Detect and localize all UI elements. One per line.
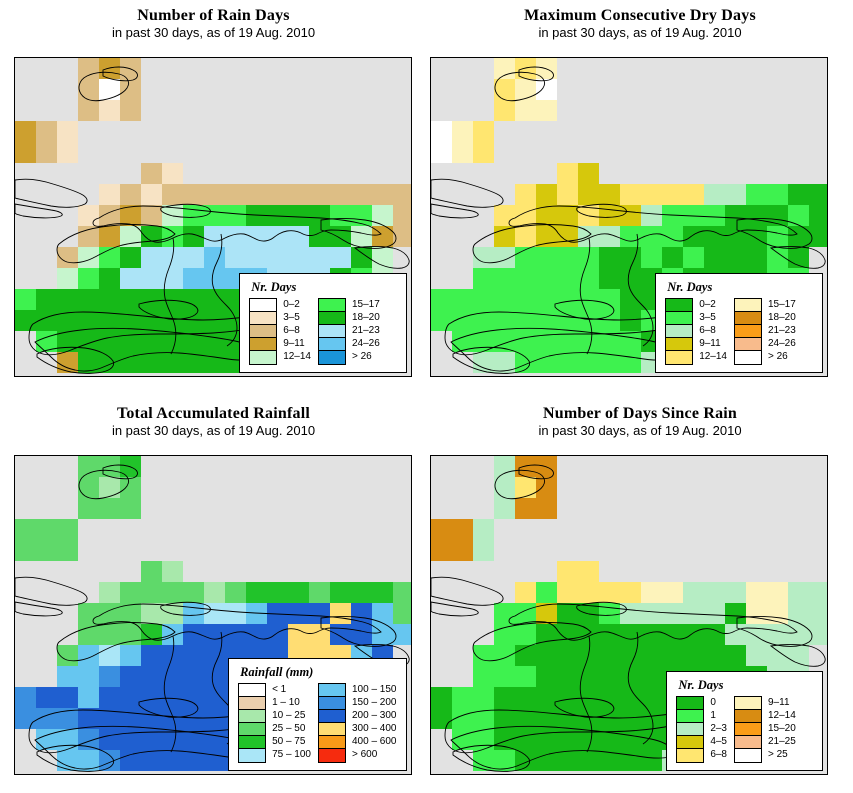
map-grid-cell bbox=[767, 603, 788, 624]
legend-label: 1 bbox=[704, 709, 727, 722]
map-grid-cell bbox=[536, 331, 557, 352]
map-grid-cell bbox=[704, 247, 725, 268]
map-grid-cell bbox=[578, 226, 599, 247]
legend-label: 9–11 bbox=[277, 337, 311, 350]
map-grid-cell bbox=[120, 498, 141, 519]
map-grid-cell bbox=[204, 624, 225, 645]
map-grid-cell bbox=[641, 603, 662, 624]
map-grid-cell bbox=[788, 582, 809, 603]
map-grid-cell bbox=[120, 582, 141, 603]
map-grid-cell bbox=[204, 268, 225, 289]
legend-label-stack: 15–1718–2021–2324–26> 26 bbox=[346, 298, 398, 365]
map-grid-cell bbox=[536, 352, 557, 373]
map-grid-cell bbox=[578, 645, 599, 666]
panel-subtitle: in past 30 days, as of 19 Aug. 2010 bbox=[0, 25, 427, 41]
legend-swatch bbox=[250, 299, 276, 312]
map-grid-cell bbox=[536, 687, 557, 708]
map-grid-cell bbox=[267, 603, 288, 624]
map-grid-cell bbox=[515, 456, 536, 477]
map-grid-cell bbox=[452, 121, 473, 142]
map-grid-cell bbox=[183, 247, 204, 268]
map-grid-cell bbox=[120, 708, 141, 729]
legend-swatch bbox=[735, 338, 761, 351]
map-grid-cell bbox=[36, 540, 57, 561]
map-grid-cell bbox=[620, 205, 641, 226]
map-grid-cell bbox=[204, 708, 225, 729]
map-grid-cell bbox=[494, 331, 515, 352]
map-grid-cell bbox=[141, 708, 162, 729]
map-grid-cell bbox=[536, 58, 557, 79]
legend-swatch bbox=[677, 749, 703, 762]
map-grid-cell bbox=[78, 603, 99, 624]
legend-label: 6–8 bbox=[277, 324, 311, 337]
map-grid-cell bbox=[515, 645, 536, 666]
map-grid-cell bbox=[120, 603, 141, 624]
map-grid-cell bbox=[599, 331, 620, 352]
legend-column: 012–34–56–8 bbox=[676, 696, 727, 763]
map-grid-cell bbox=[473, 750, 494, 771]
map-grid-cell bbox=[788, 184, 809, 205]
map-grid-cell bbox=[57, 142, 78, 163]
map-grid-cell bbox=[204, 645, 225, 666]
map-grid-cell bbox=[599, 582, 620, 603]
panel-rain-days: Number of Rain Days in past 30 days, as … bbox=[0, 6, 427, 41]
map-grid-cell bbox=[599, 310, 620, 331]
map-grid-cell bbox=[204, 184, 225, 205]
legend-swatch bbox=[250, 338, 276, 351]
legend-label: > 600 bbox=[346, 748, 398, 761]
map-grid-cell bbox=[351, 582, 372, 603]
map-grid-cell bbox=[78, 352, 99, 373]
map-grid-cell bbox=[494, 687, 515, 708]
map-grid-cell bbox=[809, 184, 828, 205]
map-grid-cell bbox=[141, 750, 162, 771]
map-grid-cell bbox=[431, 142, 452, 163]
map-grid-cell bbox=[57, 310, 78, 331]
map-grid-cell bbox=[99, 582, 120, 603]
map-grid-cell bbox=[620, 352, 641, 373]
map-grid-cell bbox=[473, 708, 494, 729]
map-grid-cell bbox=[57, 331, 78, 352]
map-grid-cell bbox=[36, 519, 57, 540]
map-grid-cell bbox=[330, 184, 351, 205]
map-grid-cell bbox=[204, 687, 225, 708]
map-grid-cell bbox=[309, 205, 330, 226]
map-grid-cell bbox=[99, 331, 120, 352]
map-grid-cell bbox=[452, 331, 473, 352]
map-grid-cell bbox=[183, 331, 204, 352]
map-grid-cell bbox=[225, 247, 246, 268]
legend-swatch bbox=[319, 710, 345, 723]
map-grid-cell bbox=[351, 184, 372, 205]
map-grid-cell bbox=[246, 226, 267, 247]
map-grid-cell bbox=[494, 645, 515, 666]
map-grid-cell bbox=[267, 247, 288, 268]
map-grid-cell bbox=[452, 519, 473, 540]
map-grid-cell bbox=[372, 205, 393, 226]
map-grid-cell bbox=[704, 603, 725, 624]
map-grid-cell bbox=[78, 226, 99, 247]
map-grid-cell bbox=[557, 645, 578, 666]
map-grid-cell bbox=[452, 708, 473, 729]
map-grid-cell bbox=[620, 247, 641, 268]
map-grid-cell bbox=[267, 582, 288, 603]
map-grid-cell bbox=[599, 247, 620, 268]
map-grid-cell bbox=[141, 582, 162, 603]
map-grid-cell bbox=[620, 603, 641, 624]
map-grid-cell bbox=[288, 624, 309, 645]
map-grid-cell bbox=[99, 687, 120, 708]
map-days-since-rain[interactable]: Nr. Days012–34–56–89–1112–1415–2021–25> … bbox=[430, 455, 828, 775]
map-grid-cell bbox=[620, 687, 641, 708]
map-grid-cell bbox=[57, 687, 78, 708]
legend-swatch bbox=[677, 723, 703, 736]
map-grid-cell bbox=[662, 624, 683, 645]
panel-subtitle: in past 30 days, as of 19 Aug. 2010 bbox=[427, 25, 853, 41]
map-grid-cell bbox=[204, 310, 225, 331]
map-grid-cell bbox=[204, 750, 225, 771]
map-grid-cell bbox=[536, 603, 557, 624]
legend-swatch bbox=[319, 697, 345, 710]
map-grid-cell bbox=[725, 582, 746, 603]
map-grid-cell bbox=[36, 310, 57, 331]
map-grid-cell bbox=[162, 687, 183, 708]
legend-swatch bbox=[666, 299, 692, 312]
map-grid-cell bbox=[515, 289, 536, 310]
map-grid-cell bbox=[599, 624, 620, 645]
map-grid-cell bbox=[99, 79, 120, 100]
map-grid-cell bbox=[536, 477, 557, 498]
legend-title: Nr. Days bbox=[251, 280, 398, 295]
map-grid-cell bbox=[246, 184, 267, 205]
map-grid-cell bbox=[557, 247, 578, 268]
map-grid-cell bbox=[473, 121, 494, 142]
map-grid-cell bbox=[78, 58, 99, 79]
map-grid-cell bbox=[494, 226, 515, 247]
map-grid-cell bbox=[99, 645, 120, 666]
map-grid-cell bbox=[36, 687, 57, 708]
panel-dry-days: Maximum Consecutive Dry Days in past 30 … bbox=[427, 6, 853, 41]
map-grid-cell bbox=[788, 645, 809, 666]
map-grid-cell bbox=[578, 352, 599, 373]
legend-label-stack: 0–23–56–89–1112–14 bbox=[693, 298, 727, 365]
map-grid-cell bbox=[473, 687, 494, 708]
map-grid-cell bbox=[620, 708, 641, 729]
map-grid-cell bbox=[225, 226, 246, 247]
legend-swatch bbox=[735, 325, 761, 338]
map-grid-cell bbox=[683, 603, 704, 624]
map-grid-cell bbox=[578, 708, 599, 729]
map-grid-cell bbox=[515, 310, 536, 331]
legend-swatch-stack bbox=[238, 683, 266, 763]
legend-swatch bbox=[666, 325, 692, 338]
map-grid-cell bbox=[536, 100, 557, 121]
legend-column: 15–1718–2021–2324–26> 26 bbox=[318, 298, 398, 365]
map-grid-cell bbox=[494, 456, 515, 477]
map-grid-cell bbox=[309, 247, 330, 268]
map-grid-cell bbox=[141, 226, 162, 247]
map-grid-cell bbox=[57, 247, 78, 268]
map-grid-cell bbox=[431, 121, 452, 142]
map-grid-cell bbox=[372, 624, 393, 645]
map-grid-cell bbox=[15, 310, 36, 331]
map-grid-cell bbox=[599, 205, 620, 226]
map-grid-cell bbox=[288, 603, 309, 624]
map-grid-cell bbox=[515, 603, 536, 624]
map-grid-cell bbox=[494, 729, 515, 750]
map-grid-cell bbox=[267, 205, 288, 226]
map-grid-cell bbox=[36, 729, 57, 750]
map-grid-cell bbox=[578, 624, 599, 645]
map-grid-cell bbox=[557, 729, 578, 750]
map-grid-cell bbox=[725, 184, 746, 205]
map-grid-cell bbox=[473, 519, 494, 540]
map-grid-cell bbox=[141, 268, 162, 289]
legend-label: 15–17 bbox=[762, 298, 814, 311]
legend-column: 100 – 150150 – 200200 – 300300 – 400400 … bbox=[318, 683, 398, 763]
map-grid-cell bbox=[767, 184, 788, 205]
panel-total-rainfall: Total Accumulated Rainfall in past 30 da… bbox=[0, 404, 427, 439]
map-grid-cell bbox=[431, 540, 452, 561]
map-grid-cell bbox=[120, 729, 141, 750]
map-grid-cell bbox=[536, 729, 557, 750]
map-grid-cell bbox=[473, 540, 494, 561]
map-grid-cell bbox=[725, 226, 746, 247]
map-grid-cell bbox=[162, 205, 183, 226]
legend-swatch bbox=[735, 736, 761, 749]
legend-label: 21–23 bbox=[346, 324, 398, 337]
map-grid-cell bbox=[704, 582, 725, 603]
map-grid-cell bbox=[641, 729, 662, 750]
map-grid-cell bbox=[78, 268, 99, 289]
map-grid-cell bbox=[204, 205, 225, 226]
legend-label: 21–23 bbox=[762, 324, 814, 337]
map-grid-cell bbox=[78, 708, 99, 729]
map-grid-cell bbox=[141, 352, 162, 373]
map-grid-cell bbox=[57, 268, 78, 289]
map-grid-cell bbox=[599, 268, 620, 289]
legend-swatch bbox=[319, 351, 345, 364]
map-grid-cell bbox=[557, 184, 578, 205]
map-grid-cell bbox=[662, 226, 683, 247]
map-grid-cell bbox=[225, 624, 246, 645]
map-grid-cell bbox=[183, 352, 204, 373]
map-grid-cell bbox=[204, 582, 225, 603]
map-grid-cell bbox=[536, 79, 557, 100]
map-grid-cell bbox=[515, 666, 536, 687]
panel-subtitle: in past 30 days, as of 19 Aug. 2010 bbox=[0, 423, 427, 439]
legend-column: 0–23–56–89–1112–14 bbox=[665, 298, 727, 365]
map-grid-cell bbox=[599, 666, 620, 687]
map-grid-cell bbox=[57, 729, 78, 750]
legend-swatch-stack bbox=[676, 696, 704, 763]
map-grid-cell bbox=[246, 582, 267, 603]
map-grid-cell bbox=[620, 729, 641, 750]
map-grid-cell bbox=[704, 226, 725, 247]
map-grid-cell bbox=[162, 708, 183, 729]
map-dry-days[interactable]: Nr. Days0–23–56–89–1112–1415–1718–2021–2… bbox=[430, 57, 828, 377]
map-grid-cell bbox=[183, 624, 204, 645]
map-grid-cell bbox=[515, 352, 536, 373]
map-grid-cell bbox=[788, 247, 809, 268]
map-grid-cell bbox=[141, 687, 162, 708]
legend-total-rainfall: Rainfall (mm)< 11 – 1010 – 2525 – 5050 –… bbox=[228, 658, 407, 771]
map-grid-cell bbox=[288, 205, 309, 226]
map-grid-cell bbox=[204, 603, 225, 624]
map-grid-cell bbox=[557, 687, 578, 708]
map-grid-cell bbox=[309, 226, 330, 247]
map-grid-cell bbox=[536, 456, 557, 477]
map-grid-cell bbox=[809, 624, 828, 645]
map-grid-cell bbox=[204, 666, 225, 687]
map-grid-cell bbox=[36, 121, 57, 142]
map-grid-cell bbox=[536, 247, 557, 268]
map-grid-cell bbox=[431, 687, 452, 708]
map-grid-cell bbox=[204, 331, 225, 352]
map-grid-cell bbox=[309, 624, 330, 645]
map-grid-cell bbox=[620, 582, 641, 603]
panel-title: Maximum Consecutive Dry Days bbox=[427, 6, 853, 25]
legend-label: 6–8 bbox=[704, 748, 727, 761]
map-grid-cell bbox=[57, 519, 78, 540]
legend-days-since-rain: Nr. Days012–34–56–89–1112–1415–2021–25> … bbox=[666, 671, 823, 771]
map-grid-cell bbox=[557, 205, 578, 226]
map-grid-cell bbox=[641, 687, 662, 708]
map-grid-cell bbox=[578, 331, 599, 352]
map-grid-cell bbox=[246, 624, 267, 645]
map-grid-cell bbox=[704, 624, 725, 645]
map-grid-cell bbox=[746, 603, 767, 624]
map-grid-cell bbox=[704, 645, 725, 666]
map-grid-cell bbox=[99, 100, 120, 121]
legend-swatch bbox=[677, 736, 703, 749]
map-grid-cell bbox=[515, 687, 536, 708]
map-grid-cell bbox=[473, 666, 494, 687]
map-grid-cell bbox=[473, 729, 494, 750]
map-grid-cell bbox=[78, 666, 99, 687]
map-grid-cell bbox=[120, 58, 141, 79]
map-grid-cell bbox=[57, 645, 78, 666]
legend-swatch bbox=[677, 697, 703, 710]
legend-label: 9–11 bbox=[762, 696, 814, 709]
legend-label: 9–11 bbox=[693, 337, 727, 350]
map-grid-cell bbox=[641, 205, 662, 226]
map-grid-cell bbox=[36, 708, 57, 729]
panel-title: Number of Rain Days bbox=[0, 6, 427, 25]
map-grid-cell bbox=[536, 184, 557, 205]
map-grid-cell bbox=[330, 603, 351, 624]
map-grid-cell bbox=[515, 750, 536, 771]
map-grid-cell bbox=[99, 289, 120, 310]
map-grid-cell bbox=[683, 645, 704, 666]
map-grid-cell bbox=[767, 226, 788, 247]
map-grid-cell bbox=[494, 79, 515, 100]
figure-sheet: Number of Rain Days in past 30 days, as … bbox=[0, 0, 853, 793]
legend-label: > 26 bbox=[346, 350, 398, 363]
map-grid-cell bbox=[141, 624, 162, 645]
legend-label-stack: 012–34–56–8 bbox=[704, 696, 727, 763]
map-grid-cell bbox=[57, 289, 78, 310]
map-grid-cell bbox=[162, 331, 183, 352]
map-total-rainfall[interactable]: Rainfall (mm)< 11 – 1010 – 2525 – 5050 –… bbox=[14, 455, 412, 775]
map-grid-cell bbox=[141, 163, 162, 184]
map-grid-cell bbox=[536, 226, 557, 247]
map-grid-cell bbox=[15, 142, 36, 163]
legend-label: 6–8 bbox=[693, 324, 727, 337]
map-grid-cell bbox=[351, 205, 372, 226]
map-grid-cell bbox=[599, 289, 620, 310]
map-grid-cell bbox=[641, 226, 662, 247]
map-rain-days[interactable]: Nr. Days0–23–56–89–1112–1415–1718–2021–2… bbox=[14, 57, 412, 377]
legend-swatch bbox=[239, 710, 265, 723]
legend-swatch bbox=[250, 325, 276, 338]
map-grid-cell bbox=[788, 603, 809, 624]
map-grid-cell bbox=[15, 708, 36, 729]
map-grid-cell bbox=[578, 750, 599, 771]
map-grid-cell bbox=[788, 624, 809, 645]
legend-swatch bbox=[319, 299, 345, 312]
map-grid-cell bbox=[120, 456, 141, 477]
legend-label: 18–20 bbox=[346, 311, 398, 324]
legend-swatch bbox=[319, 736, 345, 749]
map-grid-cell bbox=[330, 226, 351, 247]
legend-label-stack: < 11 – 1010 – 2525 – 5050 – 7575 – 100 bbox=[266, 683, 311, 763]
map-grid-cell bbox=[99, 58, 120, 79]
map-grid-cell bbox=[515, 79, 536, 100]
map-grid-cell bbox=[78, 687, 99, 708]
map-grid-cell bbox=[536, 289, 557, 310]
map-grid-cell bbox=[473, 352, 494, 373]
map-grid-cell bbox=[183, 750, 204, 771]
legend-label: 100 – 150 bbox=[346, 683, 398, 696]
map-grid-cell bbox=[494, 603, 515, 624]
legend-column: 0–23–56–89–1112–14 bbox=[249, 298, 311, 365]
legend-label: 150 – 200 bbox=[346, 696, 398, 709]
map-grid-cell bbox=[120, 352, 141, 373]
map-grid-cell bbox=[578, 666, 599, 687]
map-grid-cell bbox=[162, 729, 183, 750]
map-grid-cell bbox=[78, 247, 99, 268]
map-grid-cell bbox=[309, 582, 330, 603]
map-grid-cell bbox=[494, 247, 515, 268]
map-grid-cell bbox=[267, 184, 288, 205]
map-grid-cell bbox=[473, 289, 494, 310]
map-grid-cell bbox=[578, 184, 599, 205]
map-grid-cell bbox=[78, 331, 99, 352]
map-grid-cell bbox=[393, 226, 412, 247]
map-grid-cell bbox=[99, 226, 120, 247]
map-grid-cell bbox=[183, 582, 204, 603]
map-grid-cell bbox=[536, 645, 557, 666]
map-grid-cell bbox=[36, 289, 57, 310]
map-grid-cell bbox=[267, 624, 288, 645]
map-grid-cell bbox=[809, 603, 828, 624]
map-grid-cell bbox=[99, 268, 120, 289]
map-grid-cell bbox=[99, 310, 120, 331]
map-grid-cell bbox=[78, 498, 99, 519]
map-grid-cell bbox=[536, 205, 557, 226]
map-grid-cell bbox=[515, 226, 536, 247]
map-grid-cell bbox=[183, 289, 204, 310]
map-grid-cell bbox=[452, 310, 473, 331]
map-grid-cell bbox=[473, 247, 494, 268]
map-grid-cell bbox=[557, 666, 578, 687]
map-grid-cell bbox=[99, 624, 120, 645]
map-grid-cell bbox=[141, 645, 162, 666]
map-grid-cell bbox=[557, 163, 578, 184]
map-grid-cell bbox=[162, 645, 183, 666]
legend-title: Nr. Days bbox=[667, 280, 814, 295]
